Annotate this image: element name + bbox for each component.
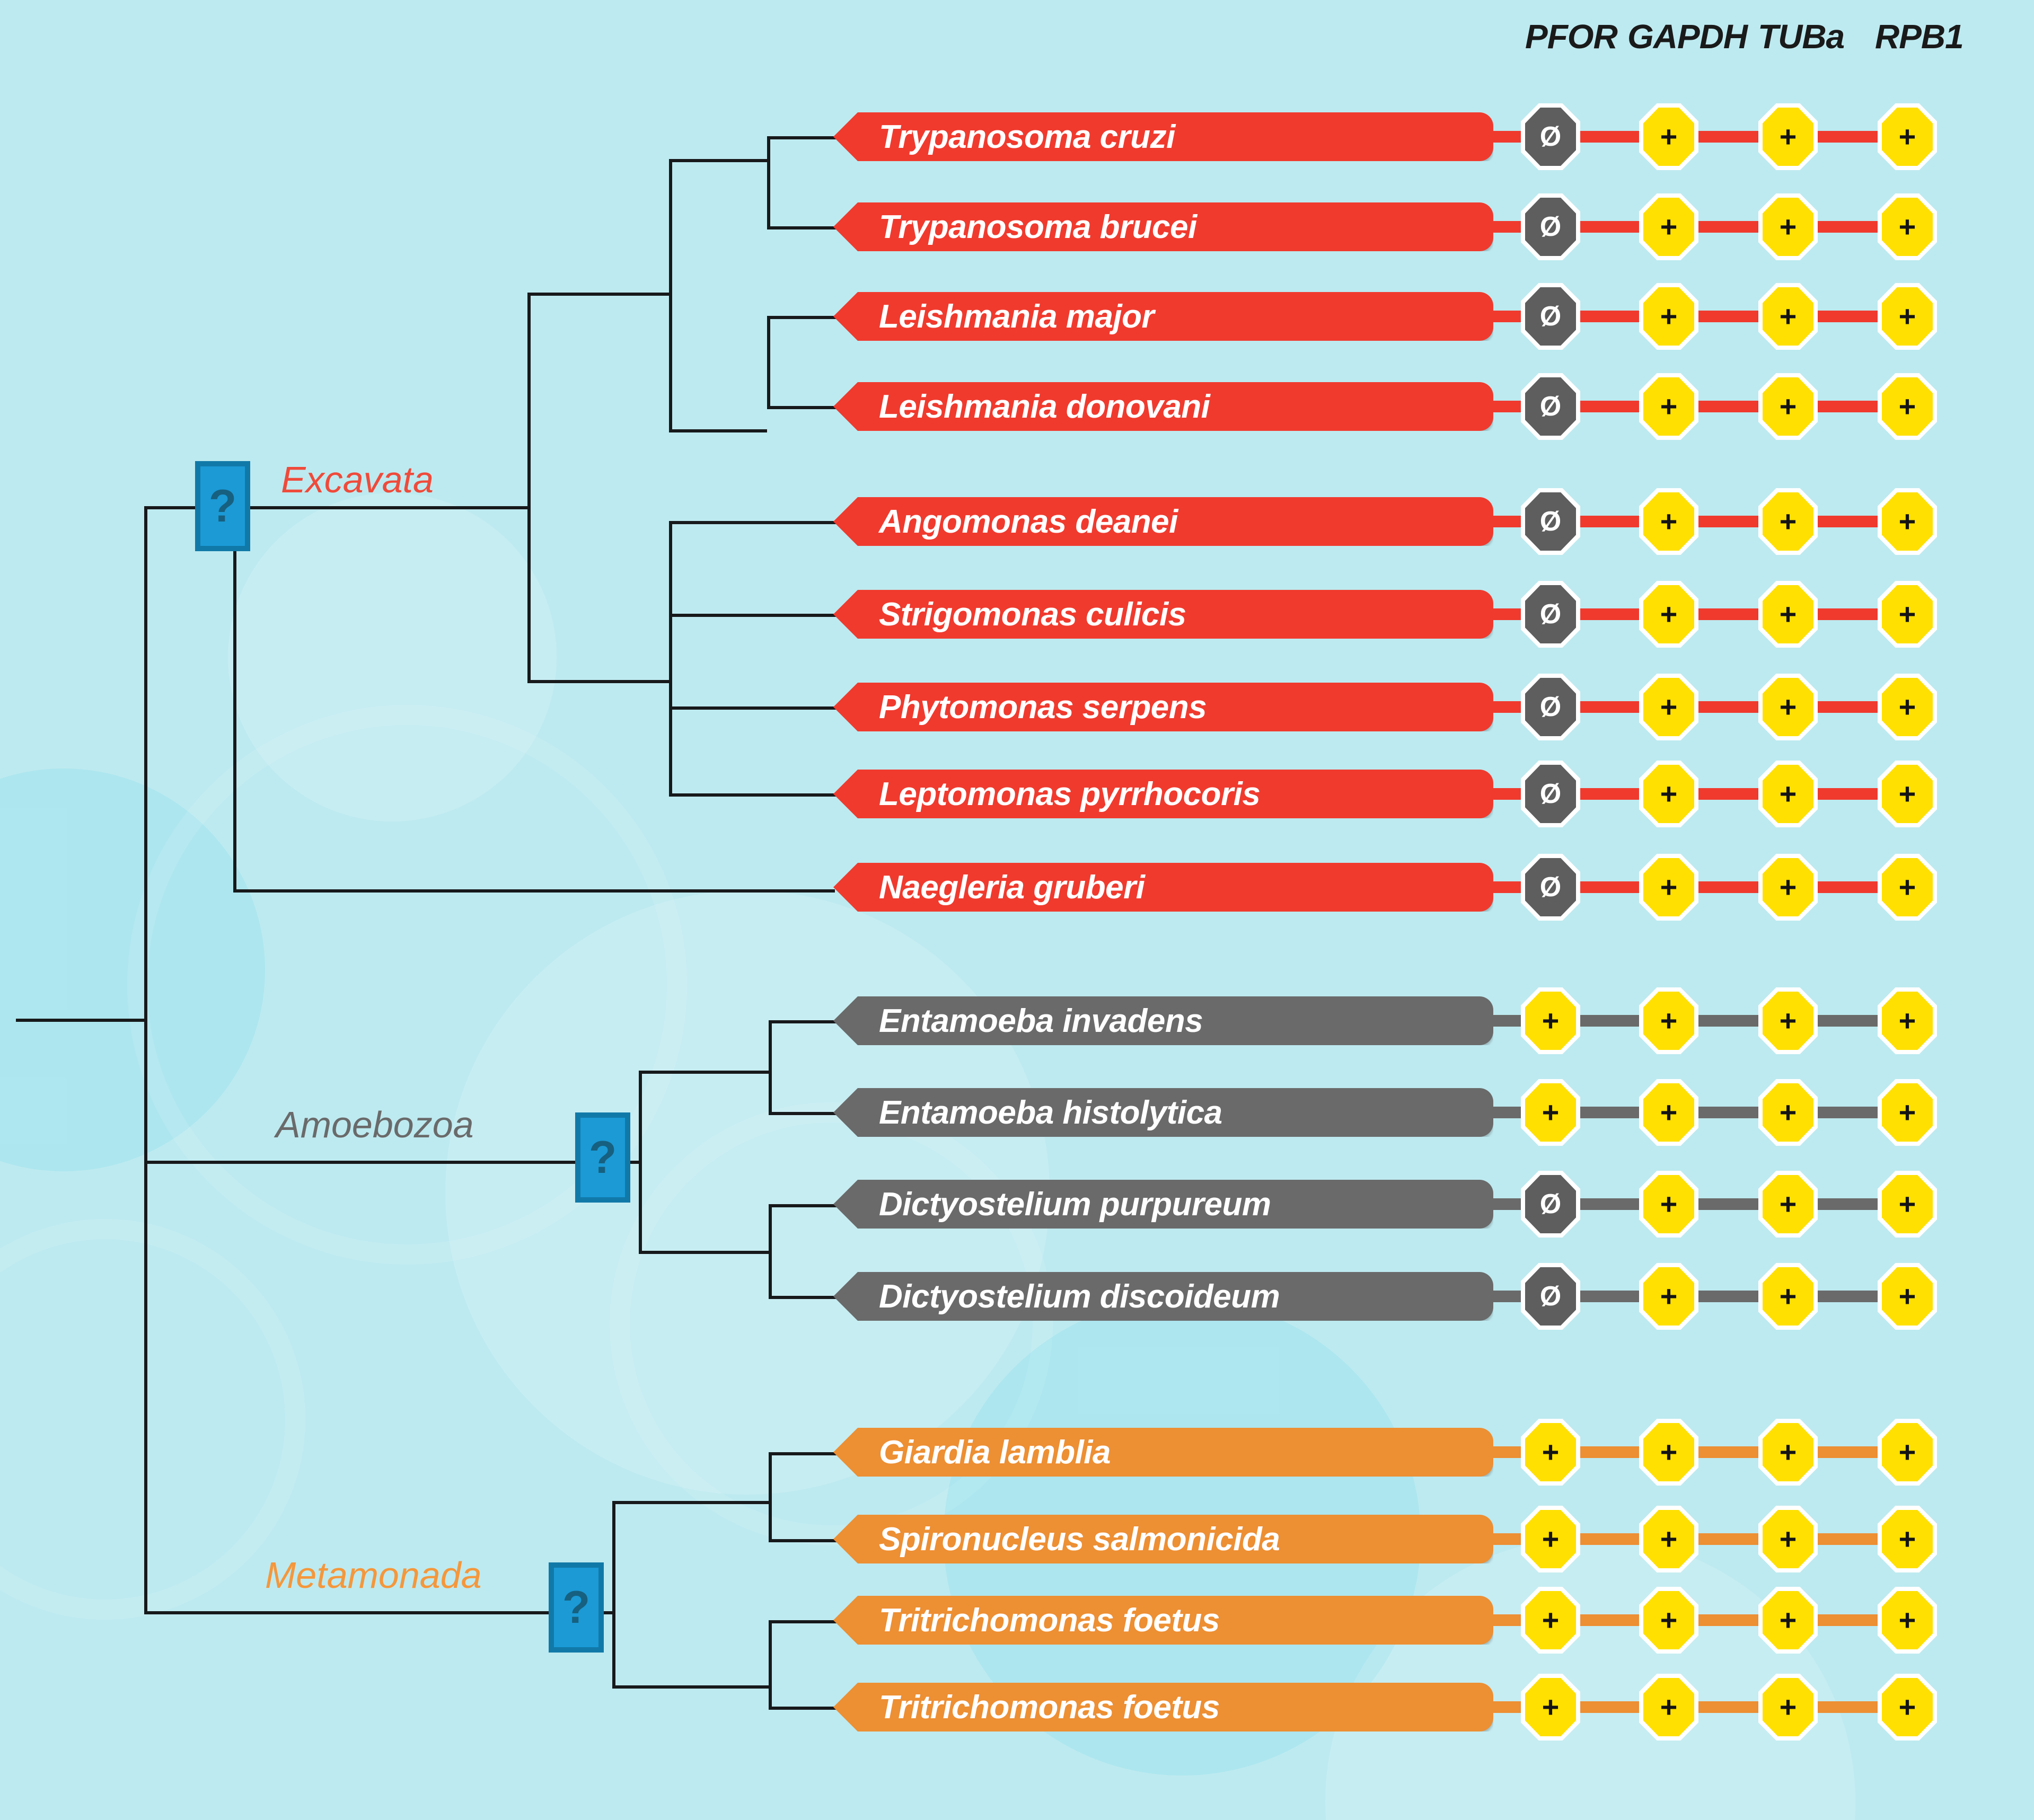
marker-connector — [1493, 1015, 1525, 1027]
species-banner[interactable]: Giardia lamblia — [833, 1428, 1493, 1477]
tree-branch-horizontal — [669, 429, 767, 432]
marker-connector — [1813, 1291, 1882, 1302]
marker-connector — [1813, 1446, 1882, 1458]
marker-present-icon[interactable]: + — [1763, 492, 1813, 551]
marker-connector — [1493, 131, 1525, 143]
species-name: Dictyostelium discoideum — [879, 1278, 1280, 1315]
marker-present-icon[interactable]: + — [1525, 1510, 1576, 1568]
tree-branch-horizontal — [612, 1685, 769, 1689]
species-banner[interactable]: Leishmania major — [833, 292, 1493, 341]
species-name: Trypanosoma brucei — [879, 208, 1197, 246]
marker-present-icon[interactable]: + — [1763, 992, 1813, 1050]
marker-connector — [1576, 131, 1643, 143]
tree-branch-horizontal — [669, 521, 836, 524]
species-banner[interactable]: Tritrichomonas foetus — [833, 1683, 1493, 1731]
column-header-tuba: TUBa — [1758, 17, 1844, 56]
marker-absent-icon[interactable]: Ø — [1525, 198, 1576, 256]
marker-connector — [1694, 131, 1763, 143]
marker-present-icon[interactable]: + — [1882, 108, 1933, 166]
marker-connector — [1493, 401, 1525, 412]
species-name: Phytomonas serpens — [879, 688, 1207, 726]
marker-present-icon[interactable]: + — [1882, 287, 1933, 346]
marker-connector — [1493, 516, 1525, 527]
species-banner[interactable]: Trypanosoma brucei — [833, 202, 1493, 251]
marker-connector — [1694, 1198, 1763, 1210]
column-header-rpb1: RPB1 — [1875, 17, 1963, 56]
marker-present-icon[interactable]: + — [1882, 1510, 1933, 1568]
species-name: Leishmania donovani — [879, 388, 1210, 426]
marker-present-icon[interactable]: + — [1882, 1678, 1933, 1736]
tree-branch-vertical — [767, 316, 770, 408]
tree-branch-vertical — [612, 1501, 615, 1688]
marker-connector — [1694, 1291, 1763, 1302]
marker-present-icon[interactable]: + — [1763, 198, 1813, 256]
marker-present-icon[interactable]: + — [1643, 765, 1694, 823]
marker-connector — [1493, 788, 1525, 800]
marker-connector — [1694, 401, 1763, 412]
tree-branch-horizontal — [669, 614, 836, 617]
species-name: Leishmania major — [879, 298, 1154, 335]
marker-connector — [1576, 311, 1643, 322]
tree-branch-horizontal — [669, 159, 767, 162]
marker-present-icon[interactable]: + — [1882, 377, 1933, 436]
marker-connector — [1493, 1614, 1525, 1626]
marker-present-icon[interactable]: + — [1763, 377, 1813, 436]
tree-branch-horizontal — [669, 706, 836, 710]
marker-present-icon[interactable]: + — [1643, 198, 1694, 256]
marker-present-icon[interactable]: + — [1643, 992, 1694, 1050]
tree-branch-horizontal — [769, 1452, 838, 1455]
marker-present-icon[interactable]: + — [1643, 1175, 1694, 1233]
species-banner[interactable]: Dictyostelium discoideum — [833, 1272, 1493, 1321]
tree-branch-vertical — [527, 293, 531, 682]
tree-branch-horizontal — [16, 1019, 146, 1022]
marker-present-icon[interactable]: + — [1763, 858, 1813, 916]
marker-connector — [1493, 1446, 1525, 1458]
background-bubble — [228, 493, 557, 821]
species-banner[interactable]: Spironucleus salmonicida — [833, 1515, 1493, 1563]
marker-connector — [1576, 788, 1643, 800]
marker-present-icon[interactable]: + — [1882, 585, 1933, 643]
marker-present-icon[interactable]: + — [1525, 1591, 1576, 1649]
marker-connector — [1576, 1614, 1643, 1626]
marker-absent-icon[interactable]: Ø — [1525, 287, 1576, 346]
tree-branch-vertical — [669, 159, 672, 431]
marker-connector — [1694, 311, 1763, 322]
marker-present-icon[interactable]: + — [1643, 1267, 1694, 1326]
marker-present-icon[interactable]: + — [1882, 1267, 1933, 1326]
marker-connector — [1813, 1015, 1882, 1027]
tree-branch-horizontal — [639, 1251, 769, 1254]
marker-present-icon[interactable]: + — [1763, 678, 1813, 736]
tree-branch-horizontal — [144, 1611, 552, 1614]
marker-connector — [1576, 221, 1643, 233]
marker-absent-icon[interactable]: Ø — [1525, 108, 1576, 166]
tree-branch-horizontal — [769, 1620, 838, 1623]
species-name: Entamoeba invadens — [879, 1002, 1203, 1040]
clade-uncertainty-marker-amoebozoa[interactable]: ? — [575, 1112, 630, 1203]
clade-label-amoebozoa: Amoebozoa — [276, 1103, 474, 1146]
marker-connector — [1694, 788, 1763, 800]
species-banner[interactable]: Phytomonas serpens — [833, 683, 1493, 731]
background-bubble — [0, 1219, 305, 1620]
marker-present-icon[interactable]: + — [1882, 1591, 1933, 1649]
marker-connector — [1576, 516, 1643, 527]
marker-connector — [1813, 1701, 1882, 1713]
tree-branch-vertical — [767, 136, 770, 228]
marker-present-icon[interactable]: + — [1643, 858, 1694, 916]
species-name: Tritrichomonas foetus — [879, 1689, 1220, 1726]
species-name: Dictyostelium purpureum — [879, 1186, 1271, 1223]
marker-connector — [1694, 1446, 1763, 1458]
marker-present-icon[interactable]: + — [1643, 108, 1694, 166]
species-banner[interactable]: Entamoeba histolytica — [833, 1088, 1493, 1137]
marker-present-icon[interactable]: + — [1643, 1591, 1694, 1649]
marker-connector — [1813, 788, 1882, 800]
marker-present-icon[interactable]: + — [1643, 678, 1694, 736]
marker-connector — [1493, 1107, 1525, 1118]
marker-present-icon[interactable]: + — [1882, 992, 1933, 1050]
marker-present-icon[interactable]: + — [1882, 492, 1933, 551]
marker-connector — [1493, 221, 1525, 233]
clade-label-metamonada: Metamonada — [265, 1554, 482, 1596]
marker-present-icon[interactable]: + — [1763, 1175, 1813, 1233]
marker-connector — [1813, 516, 1882, 527]
tree-branch-horizontal — [767, 406, 836, 409]
marker-connector — [1576, 1701, 1643, 1713]
marker-connector — [1813, 131, 1882, 143]
tree-branch-horizontal — [144, 1161, 576, 1164]
species-name: Strigomonas culicis — [879, 596, 1186, 633]
marker-connector — [1694, 1015, 1763, 1027]
marker-connector — [1576, 608, 1643, 620]
marker-present-icon[interactable]: + — [1763, 765, 1813, 823]
marker-present-icon[interactable]: + — [1643, 1510, 1694, 1568]
marker-connector — [1493, 1198, 1525, 1210]
marker-present-icon[interactable]: + — [1763, 1591, 1813, 1649]
marker-present-icon[interactable]: + — [1882, 1175, 1933, 1233]
marker-present-icon[interactable]: + — [1525, 1083, 1576, 1142]
marker-connector — [1576, 1107, 1643, 1118]
marker-connector — [1813, 1533, 1882, 1545]
marker-connector — [1813, 1614, 1882, 1626]
marker-connector — [1813, 881, 1882, 893]
tree-branch-horizontal — [767, 316, 836, 319]
marker-connector — [1493, 1291, 1525, 1302]
species-name: Angomonas deanei — [879, 503, 1178, 541]
marker-connector — [1694, 516, 1763, 527]
marker-connector — [1694, 1614, 1763, 1626]
marker-absent-icon[interactable]: Ø — [1525, 492, 1576, 551]
marker-connector — [1694, 221, 1763, 233]
marker-present-icon[interactable]: + — [1763, 108, 1813, 166]
tree-branch-vertical — [769, 1620, 772, 1709]
marker-connector — [1576, 1291, 1643, 1302]
marker-connector — [1493, 701, 1525, 713]
background-bubble — [0, 768, 265, 1171]
species-banner[interactable]: Leptomonas pyrrhocoris — [833, 770, 1493, 818]
tree-branch-horizontal — [527, 293, 671, 296]
marker-absent-icon[interactable]: Ø — [1525, 1175, 1576, 1233]
tree-branch-vertical — [639, 1071, 642, 1253]
species-banner[interactable]: Strigomonas culicis — [833, 590, 1493, 639]
tree-branch-horizontal — [767, 136, 836, 139]
marker-connector — [1493, 608, 1525, 620]
clade-uncertainty-marker-metamonada[interactable]: ? — [549, 1562, 604, 1653]
marker-connector — [1576, 1015, 1643, 1027]
marker-connector — [1576, 701, 1643, 713]
figure-canvas: PFORGAPDHTUBaRPB1 ?Excavata?Amoebozoa?Me… — [0, 0, 2034, 1820]
marker-connector — [1813, 221, 1882, 233]
marker-present-icon[interactable]: + — [1763, 1267, 1813, 1326]
marker-absent-icon[interactable]: Ø — [1525, 585, 1576, 643]
marker-connector — [1813, 608, 1882, 620]
marker-present-icon[interactable]: + — [1882, 1423, 1933, 1481]
species-banner[interactable]: Tritrichomonas foetus — [833, 1596, 1493, 1645]
marker-connector — [1694, 881, 1763, 893]
species-banner[interactable]: Naegleria gruberi — [833, 863, 1493, 912]
marker-present-icon[interactable]: + — [1882, 765, 1933, 823]
species-name: Leptomonas pyrrhocoris — [879, 775, 1260, 813]
marker-connector — [1694, 608, 1763, 620]
tree-branch-vertical — [669, 521, 672, 796]
marker-present-icon[interactable]: + — [1763, 1678, 1813, 1736]
marker-present-icon[interactable]: + — [1643, 287, 1694, 346]
marker-connector — [1493, 311, 1525, 322]
tree-branch-horizontal — [767, 226, 836, 229]
clade-uncertainty-marker-excavata[interactable]: ? — [195, 461, 250, 551]
marker-connector — [1813, 1107, 1882, 1118]
tree-branch-horizontal — [669, 793, 836, 797]
tree-branch-horizontal — [233, 889, 835, 893]
marker-present-icon[interactable]: + — [1643, 1678, 1694, 1736]
marker-connector — [1694, 1107, 1763, 1118]
marker-connector — [1493, 1533, 1525, 1545]
tree-branch-vertical — [144, 506, 147, 1614]
tree-branch-vertical — [769, 1204, 772, 1298]
tree-branch-horizontal — [769, 1296, 838, 1299]
tree-branch-horizontal — [233, 506, 527, 509]
marker-present-icon[interactable]: + — [1763, 1510, 1813, 1568]
tree-branch-horizontal — [769, 1204, 838, 1207]
marker-present-icon[interactable]: + — [1882, 198, 1933, 256]
species-banner[interactable]: Entamoeba invadens — [833, 996, 1493, 1045]
marker-present-icon[interactable]: + — [1643, 585, 1694, 643]
marker-connector — [1493, 881, 1525, 893]
marker-absent-icon[interactable]: Ø — [1525, 377, 1576, 436]
marker-present-icon[interactable]: + — [1643, 377, 1694, 436]
marker-absent-icon[interactable]: Ø — [1525, 858, 1576, 916]
marker-connector — [1813, 401, 1882, 412]
marker-present-icon[interactable]: + — [1882, 1083, 1933, 1142]
column-header-pfor: PFOR — [1525, 17, 1617, 56]
marker-connector — [1694, 701, 1763, 713]
marker-connector — [1694, 1533, 1763, 1545]
marker-connector — [1576, 1446, 1643, 1458]
tree-branch-horizontal — [769, 1707, 838, 1710]
marker-connector — [1576, 881, 1643, 893]
tree-branch-horizontal — [769, 1539, 838, 1542]
column-header-gapdh: GAPDH — [1627, 17, 1747, 56]
species-name: Tritrichomonas foetus — [879, 1602, 1220, 1639]
marker-connector — [1576, 401, 1643, 412]
tree-branch-vertical — [769, 1020, 772, 1114]
species-name: Spironucleus salmonicida — [879, 1521, 1280, 1558]
marker-present-icon[interactable]: + — [1643, 1083, 1694, 1142]
tree-branch-horizontal — [527, 680, 671, 683]
species-banner[interactable]: Leishmania donovani — [833, 382, 1493, 431]
species-banner[interactable]: Trypanosoma cruzi — [833, 112, 1493, 161]
tree-branch-horizontal — [639, 1071, 769, 1074]
tree-branch-horizontal — [612, 1501, 769, 1504]
marker-connector — [1813, 1198, 1882, 1210]
marker-present-icon[interactable]: + — [1882, 858, 1933, 916]
tree-branch-vertical — [233, 506, 236, 891]
clade-label-excavata: Excavata — [281, 458, 434, 501]
marker-connector — [1576, 1198, 1643, 1210]
marker-present-icon[interactable]: + — [1525, 992, 1576, 1050]
species-name: Naegleria gruberi — [879, 869, 1144, 906]
background-bubble — [610, 1102, 1053, 1545]
species-name: Entamoeba histolytica — [879, 1094, 1222, 1132]
marker-present-icon[interactable]: + — [1763, 1423, 1813, 1481]
marker-present-icon[interactable]: + — [1882, 678, 1933, 736]
species-banner[interactable]: Angomonas deanei — [833, 497, 1493, 546]
marker-connector — [1813, 311, 1882, 322]
marker-present-icon[interactable]: + — [1525, 1678, 1576, 1736]
marker-present-icon[interactable]: + — [1643, 1423, 1694, 1481]
marker-absent-icon[interactable]: Ø — [1525, 678, 1576, 736]
species-name: Trypanosoma cruzi — [879, 118, 1175, 156]
marker-connector — [1493, 1701, 1525, 1713]
tree-branch-horizontal — [769, 1112, 838, 1115]
marker-absent-icon[interactable]: Ø — [1525, 765, 1576, 823]
marker-present-icon[interactable]: + — [1643, 492, 1694, 551]
marker-connector — [1813, 701, 1882, 713]
marker-connector — [1694, 1701, 1763, 1713]
marker-present-icon[interactable]: + — [1525, 1423, 1576, 1481]
marker-present-icon[interactable]: + — [1763, 585, 1813, 643]
tree-branch-horizontal — [769, 1020, 838, 1023]
marker-present-icon[interactable]: + — [1763, 1083, 1813, 1142]
marker-present-icon[interactable]: + — [1763, 287, 1813, 346]
species-banner[interactable]: Dictyostelium purpureum — [833, 1180, 1493, 1229]
marker-connector — [1576, 1533, 1643, 1545]
tree-branch-vertical — [769, 1452, 772, 1541]
marker-absent-icon[interactable]: Ø — [1525, 1267, 1576, 1326]
species-name: Giardia lamblia — [879, 1434, 1111, 1471]
